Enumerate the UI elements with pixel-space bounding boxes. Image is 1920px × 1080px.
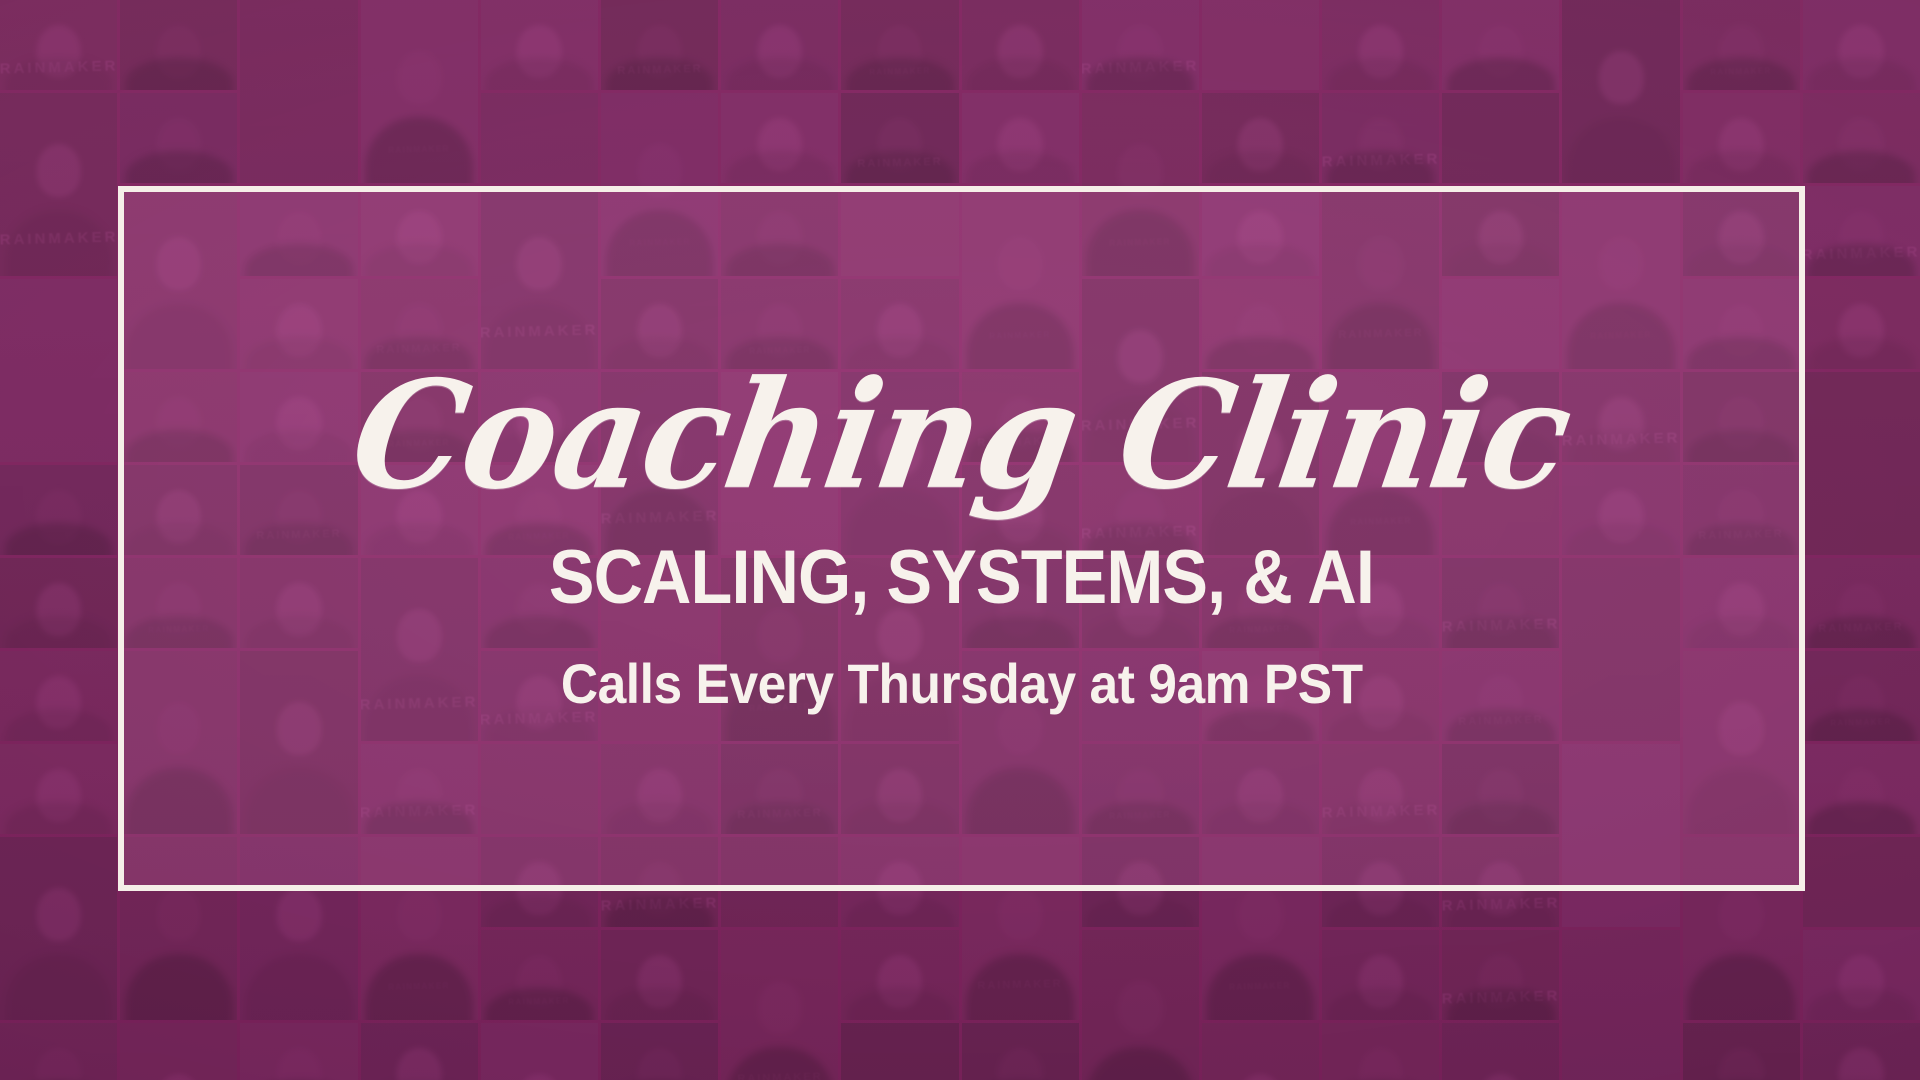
script-title: Coaching Clinic: [344, 361, 1580, 509]
banner-canvas: RAINMAKERRAINMAKERRAINMAKERRAINMAKERRAIN…: [0, 0, 1920, 1080]
headline-text: SCALING, SYSTEMS, & AI: [549, 540, 1374, 616]
text-block: Coaching Clinic SCALING, SYSTEMS, & AI C…: [118, 186, 1805, 891]
schedule-text: Calls Every Thursday at 9am PST: [561, 656, 1363, 712]
